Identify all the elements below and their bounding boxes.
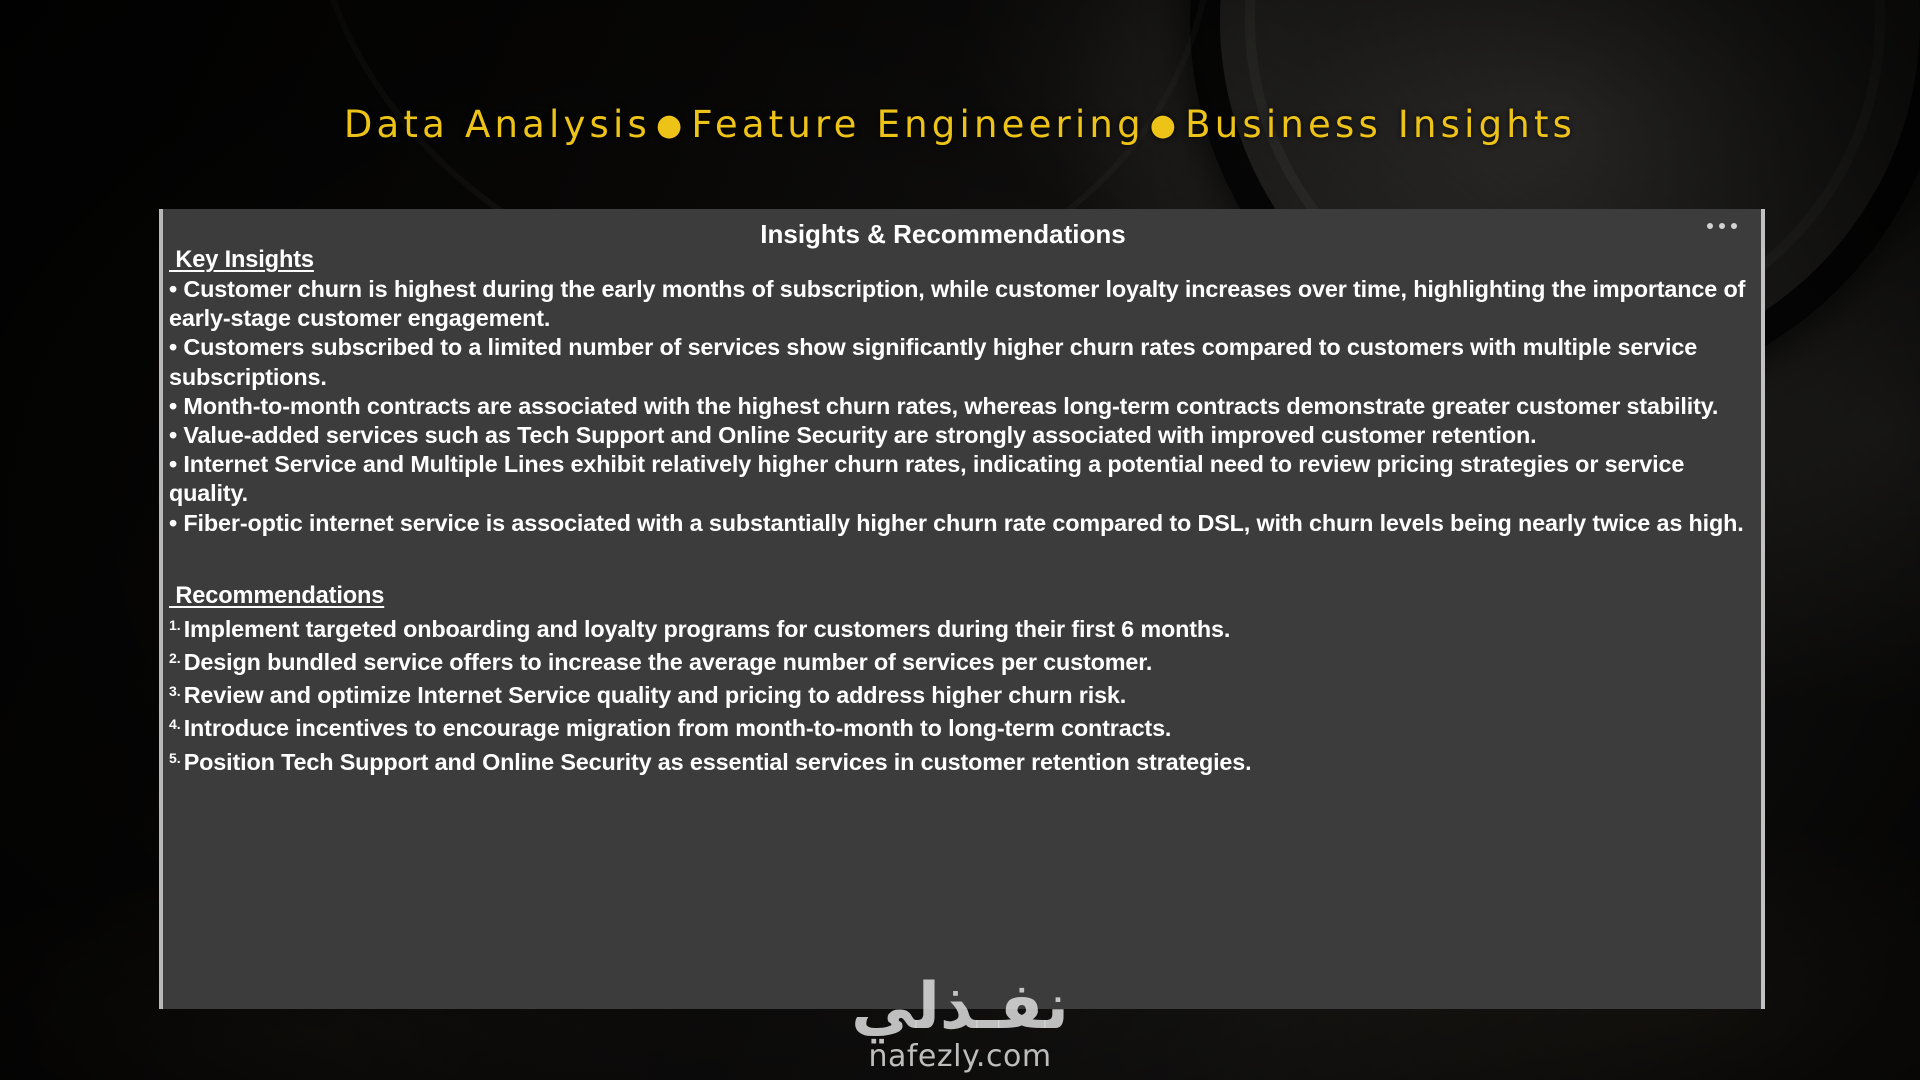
- slide-headline: Data Analysis●Feature Engineering●Busine…: [0, 103, 1920, 146]
- insight-bullet-1: • Customer churn is highest during the e…: [169, 275, 1757, 333]
- insight-bullet-3: • Month-to-month contracts are associate…: [169, 392, 1757, 421]
- presentation-slide: Data Analysis●Feature Engineering●Busine…: [0, 0, 1920, 1080]
- recommendation-number-3: 3.: [169, 683, 184, 699]
- recommendation-text-4: Introduce incentives to encourage migrat…: [184, 715, 1172, 741]
- headline-segment-feature-engineering: Feature Engineering: [691, 103, 1144, 146]
- key-insights-heading: Key Insights: [169, 245, 314, 275]
- insight-bullet-4: • Value-added services such as Tech Supp…: [169, 421, 1757, 450]
- headline-separator-dot-1: ●: [651, 108, 691, 143]
- recommendation-number-4: 4.: [169, 716, 184, 732]
- recommendation-item-3: 3.Review and optimize Internet Service q…: [169, 677, 1757, 710]
- content-spacer-small: [169, 567, 1757, 581]
- ellipsis-dot-1: [1707, 223, 1713, 229]
- headline-segment-business-insights: Business Insights: [1185, 103, 1576, 146]
- recommendation-number-2: 2.: [169, 650, 184, 666]
- ellipsis-dot-3: [1731, 223, 1737, 229]
- insight-bullet-2: • Customers subscribed to a limited numb…: [169, 333, 1757, 391]
- recommendation-text-3: Review and optimize Internet Service qua…: [184, 682, 1126, 708]
- recommendation-number-5: 5.: [169, 750, 184, 766]
- recommendation-text-2: Design bundled service offers to increas…: [184, 649, 1153, 675]
- panel-right-scrollbar[interactable]: [1761, 209, 1765, 1009]
- recommendation-item-2: 2.Design bundled service offers to incre…: [169, 644, 1757, 677]
- insight-bullet-6: • Fiber-optic internet service is associ…: [169, 509, 1757, 538]
- headline-segment-data-analysis: Data Analysis: [344, 103, 651, 146]
- headline-separator-dot-2: ●: [1145, 108, 1185, 143]
- recommendation-text-5: Position Tech Support and Online Securit…: [184, 749, 1252, 775]
- panel-body: Insights & Recommendations Key Insights …: [163, 209, 1761, 1009]
- ellipsis-icon[interactable]: [1707, 223, 1737, 229]
- recommendation-item-5: 5.Position Tech Support and Online Secur…: [169, 744, 1757, 777]
- recommendation-text-1: Implement targeted onboarding and loyalt…: [184, 616, 1231, 642]
- insight-bullet-5: • Internet Service and Multiple Lines ex…: [169, 450, 1757, 508]
- recommendations-heading: Recommendations: [169, 581, 384, 611]
- recommendation-number-1: 1.: [169, 617, 184, 633]
- recommendation-item-1: 1.Implement targeted onboarding and loya…: [169, 611, 1757, 644]
- content-spacer: [169, 538, 1757, 567]
- recommendation-item-4: 4.Introduce incentives to encourage migr…: [169, 710, 1757, 743]
- panel-content: Key Insights • Customer churn is highest…: [169, 245, 1757, 777]
- insights-panel: Insights & Recommendations Key Insights …: [159, 209, 1765, 1009]
- ellipsis-dot-2: [1719, 223, 1725, 229]
